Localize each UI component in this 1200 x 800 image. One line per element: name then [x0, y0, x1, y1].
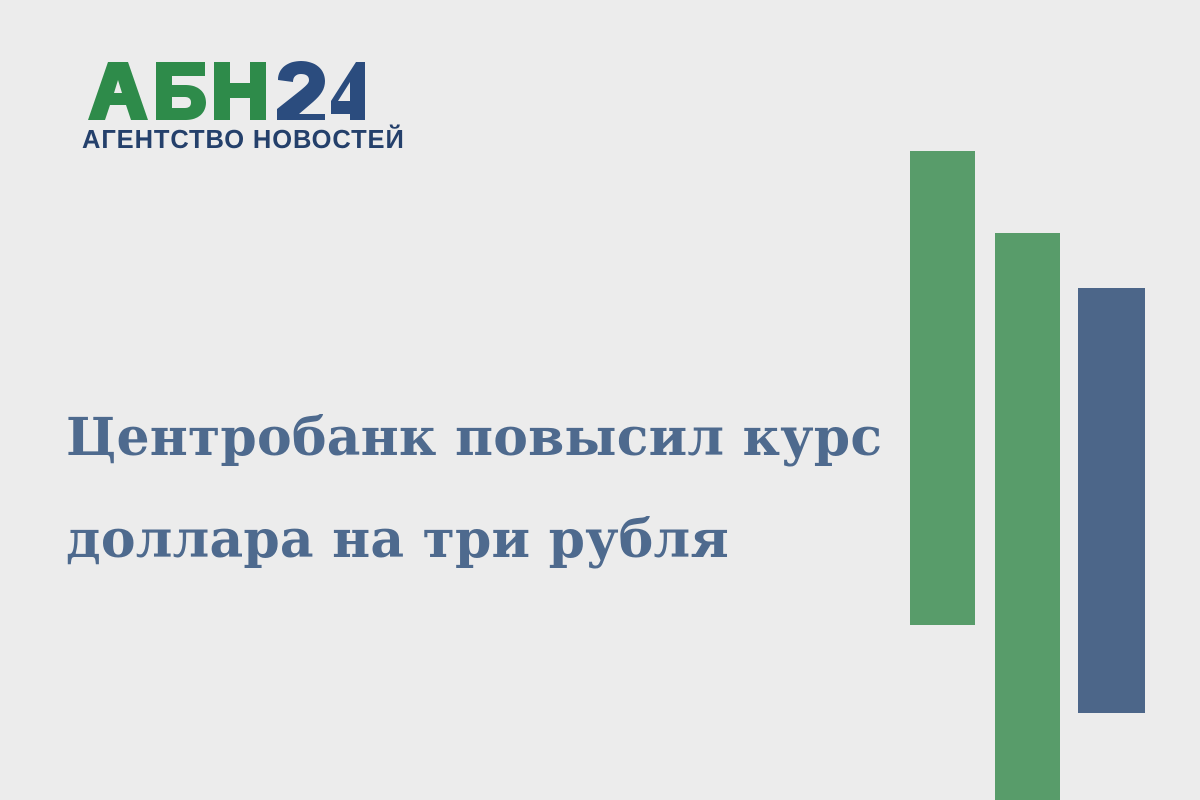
news-card: АГЕНТСТВО НОВОСТЕЙ Центробанк повысил ку…	[0, 0, 1200, 800]
page-title: Центробанк повысил курс доллара на три р…	[66, 387, 866, 591]
decorative-bar-3	[1078, 288, 1145, 713]
logo-tagline: АГЕНТСТВО НОВОСТЕЙ	[82, 128, 372, 154]
decorative-bar-1	[910, 151, 975, 625]
decorative-bar-2	[995, 233, 1060, 800]
abn24-logo[interactable]: АГЕНТСТВО НОВОСТЕЙ	[82, 60, 372, 160]
headline-line-1: Центробанк повысил курс	[66, 387, 866, 489]
abn24-wordmark-icon	[82, 60, 365, 122]
headline-line-2: доллара на три рубля	[66, 489, 866, 591]
